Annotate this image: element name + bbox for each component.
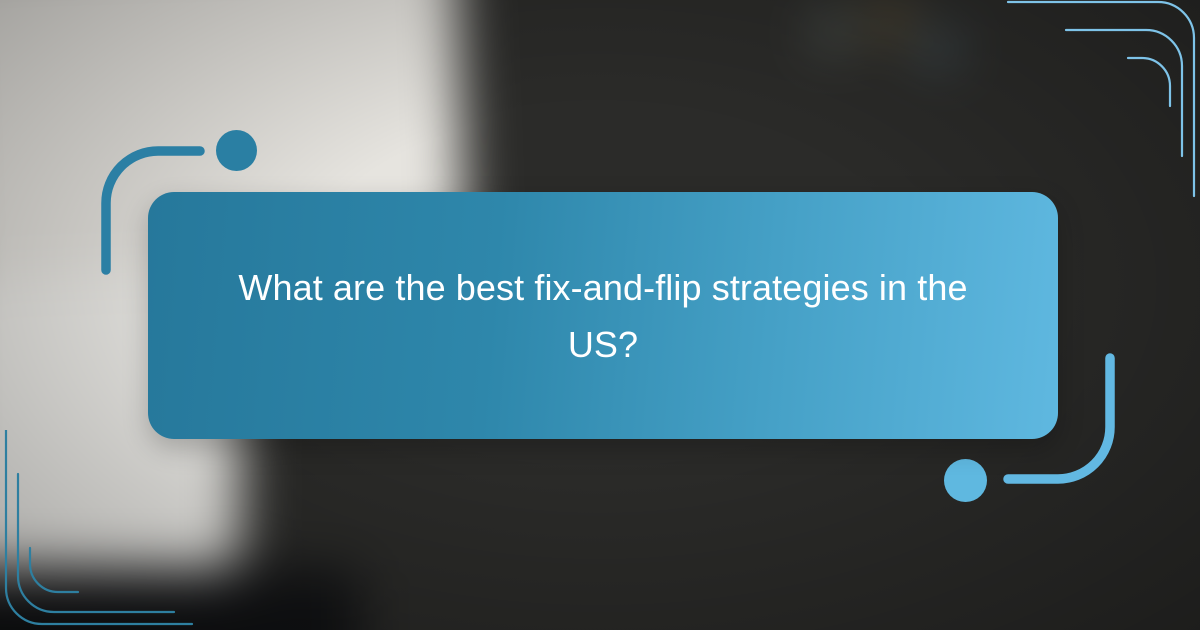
accent-dot-bottom-right-icon: [944, 459, 987, 502]
title-card: What are the best fix-and-flip strategie…: [148, 192, 1058, 439]
page-title: What are the best fix-and-flip strategie…: [183, 259, 1023, 373]
promo-card-canvas: What are the best fix-and-flip strategie…: [0, 0, 1200, 630]
accent-dot-top-left-icon: [216, 130, 257, 171]
